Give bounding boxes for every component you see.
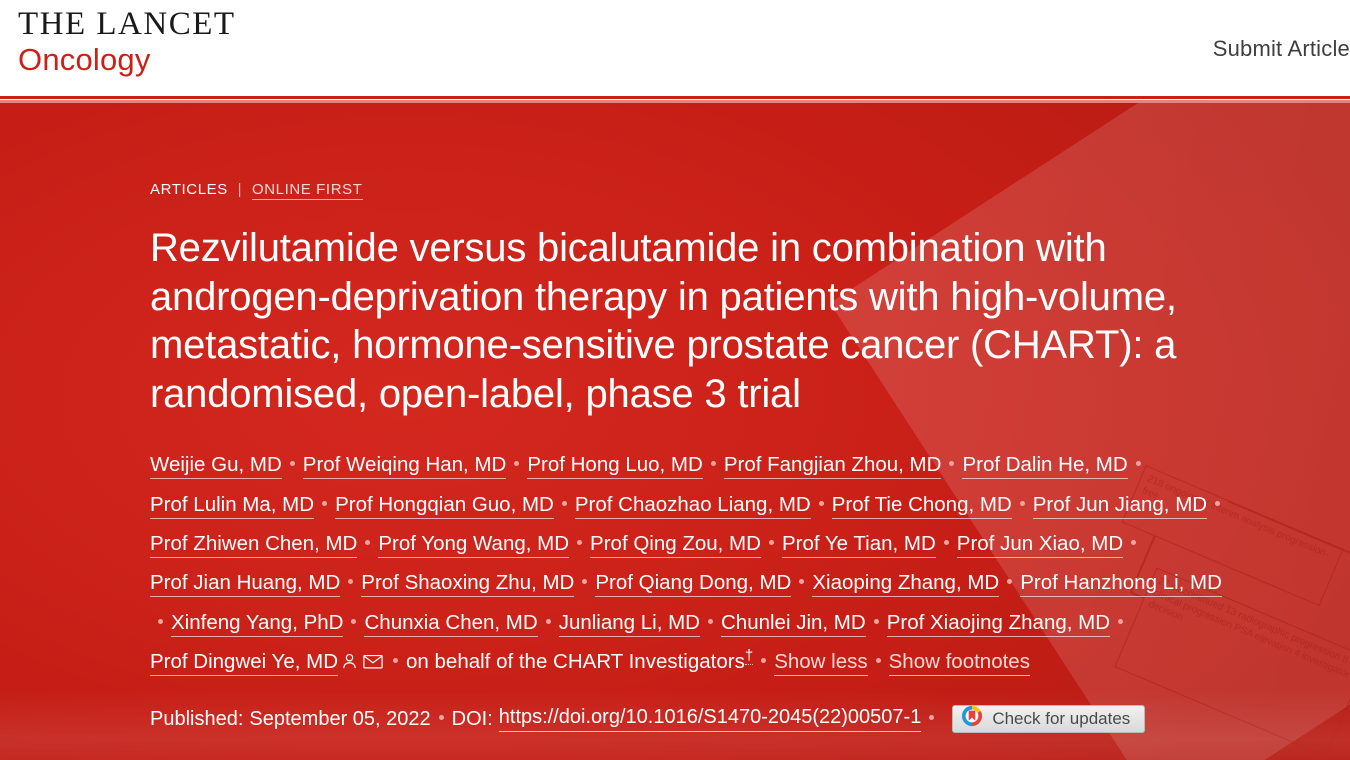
author-separator-dot bbox=[874, 619, 879, 624]
author-separator-dot bbox=[819, 501, 824, 506]
breadcrumb: ARTICLES | ONLINE FIRST bbox=[150, 181, 1350, 198]
hero-content: ARTICLES | ONLINE FIRST Rezvilutamide ve… bbox=[0, 181, 1350, 733]
author-separator-dot bbox=[322, 501, 327, 506]
author-separator-dot bbox=[1020, 501, 1025, 506]
breadcrumb-section: ARTICLES bbox=[150, 181, 228, 198]
crossmark-logo-icon bbox=[961, 705, 983, 733]
author-separator-dot bbox=[769, 540, 774, 545]
author-link[interactable]: Prof Jian Huang, MD bbox=[150, 571, 340, 597]
show-footnotes-link[interactable]: Show footnotes bbox=[889, 650, 1030, 676]
author-link[interactable]: Prof Qing Zou, MD bbox=[590, 532, 761, 558]
doi-link[interactable]: https://doi.org/10.1016/S1470-2045(22)00… bbox=[499, 706, 922, 732]
author-separator-dot bbox=[1215, 501, 1220, 506]
site-header: THE LANCET Oncology Submit Article bbox=[0, 0, 1350, 103]
publication-info: Published: September 05, 2022 DOI: https… bbox=[150, 705, 1350, 733]
author-separator-dot bbox=[1136, 461, 1141, 466]
submit-article-link[interactable]: Submit Article bbox=[1213, 36, 1350, 61]
author-link[interactable]: Prof Zhiwen Chen, MD bbox=[150, 532, 357, 558]
author-separator-dot bbox=[393, 658, 398, 663]
author-separator-dot bbox=[708, 619, 713, 624]
author-separator-dot bbox=[562, 501, 567, 506]
author-link[interactable]: Weijie Gu, MD bbox=[150, 453, 282, 479]
author-separator-dot bbox=[1118, 619, 1123, 624]
author-list: Weijie Gu, MDProf Weiqing Han, MDProf Ho… bbox=[150, 445, 1240, 681]
author-link[interactable]: Prof Ye Tian, MD bbox=[782, 532, 936, 558]
author-link[interactable]: Prof Fangjian Zhou, MD bbox=[724, 453, 942, 479]
author-link[interactable]: Prof Tie Chong, MD bbox=[832, 493, 1012, 519]
author-link[interactable]: Prof Lulin Ma, MD bbox=[150, 493, 314, 519]
group-credit: on behalf of the CHART Investigators bbox=[406, 650, 745, 673]
brand-title-oncology: Oncology bbox=[18, 44, 236, 75]
author-separator-dot bbox=[577, 540, 582, 545]
author-link[interactable]: Prof Xiaojing Zhang, MD bbox=[887, 611, 1110, 637]
author-separator-dot bbox=[348, 579, 353, 584]
author-link[interactable]: Prof Hongqian Guo, MD bbox=[335, 493, 554, 519]
brand-title-lancet: THE LANCET bbox=[18, 8, 236, 41]
author-link[interactable]: Prof Yong Wang, MD bbox=[378, 532, 569, 558]
author-separator-dot bbox=[711, 461, 716, 466]
author-link[interactable]: Prof Hanzhong Li, MD bbox=[1020, 571, 1222, 597]
author-link[interactable]: Prof Jun Xiao, MD bbox=[957, 532, 1123, 558]
breadcrumb-online-first-link[interactable]: ONLINE FIRST bbox=[252, 181, 363, 200]
author-separator-dot bbox=[514, 461, 519, 466]
author-separator-dot bbox=[949, 461, 954, 466]
author-separator-dot bbox=[1131, 540, 1136, 545]
author-separator-dot bbox=[761, 658, 766, 663]
published-date: September 05, 2022 bbox=[249, 708, 430, 731]
author-link[interactable]: Xiaoping Zhang, MD bbox=[812, 571, 999, 597]
author-separator-dot bbox=[799, 579, 804, 584]
header-divider-rule bbox=[0, 96, 1350, 103]
author-link[interactable]: Prof Chaozhao Liang, MD bbox=[575, 493, 811, 519]
author-separator-dot bbox=[365, 540, 370, 545]
author-link[interactable]: Prof Shaoxing Zhu, MD bbox=[361, 571, 574, 597]
breadcrumb-divider: | bbox=[238, 181, 243, 198]
article-title: Rezvilutamide versus bicalutamide in com… bbox=[150, 224, 1260, 418]
author-separator-dot bbox=[351, 619, 356, 624]
author-separator-dot bbox=[944, 540, 949, 545]
header-nav: Submit Article bbox=[1213, 36, 1350, 62]
article-hero-banner: 3 218 ongoing at interim analysis progre… bbox=[0, 103, 1350, 760]
person-icon[interactable] bbox=[340, 652, 359, 671]
author-link[interactable]: Junliang Li, MD bbox=[559, 611, 700, 637]
corresponding-author-link[interactable]: Prof Dingwei Ye, MD bbox=[150, 650, 338, 676]
footnote-marker[interactable]: † bbox=[745, 647, 753, 665]
author-link[interactable]: Xinfeng Yang, PhD bbox=[171, 611, 343, 637]
author-separator-dot bbox=[1007, 579, 1012, 584]
show-less-link[interactable]: Show less bbox=[774, 650, 867, 676]
publine-separator-dot bbox=[929, 715, 934, 720]
author-link[interactable]: Chunxia Chen, MD bbox=[364, 611, 537, 637]
published-label: Published: bbox=[150, 708, 243, 731]
author-separator-dot bbox=[582, 579, 587, 584]
author-link[interactable]: Prof Weiqing Han, MD bbox=[303, 453, 507, 479]
author-link[interactable]: Prof Qiang Dong, MD bbox=[595, 571, 791, 597]
envelope-icon[interactable] bbox=[363, 652, 383, 671]
crossmark-label: Check for updates bbox=[992, 709, 1130, 729]
publine-separator-dot bbox=[439, 715, 444, 720]
author-separator-dot bbox=[158, 619, 163, 624]
crossmark-check-for-updates-button[interactable]: Check for updates bbox=[952, 705, 1145, 733]
author-link[interactable]: Prof Jun Jiang, MD bbox=[1033, 493, 1207, 519]
doi-label: DOI: bbox=[452, 708, 493, 731]
author-link[interactable]: Prof Dalin He, MD bbox=[962, 453, 1127, 479]
author-separator-dot bbox=[290, 461, 295, 466]
author-separator-dot bbox=[876, 658, 881, 663]
lancet-oncology-logo[interactable]: THE LANCET Oncology bbox=[18, 8, 236, 75]
author-link[interactable]: Prof Hong Luo, MD bbox=[527, 453, 702, 479]
author-separator-dot bbox=[546, 619, 551, 624]
author-link[interactable]: Chunlei Jin, MD bbox=[721, 611, 866, 637]
